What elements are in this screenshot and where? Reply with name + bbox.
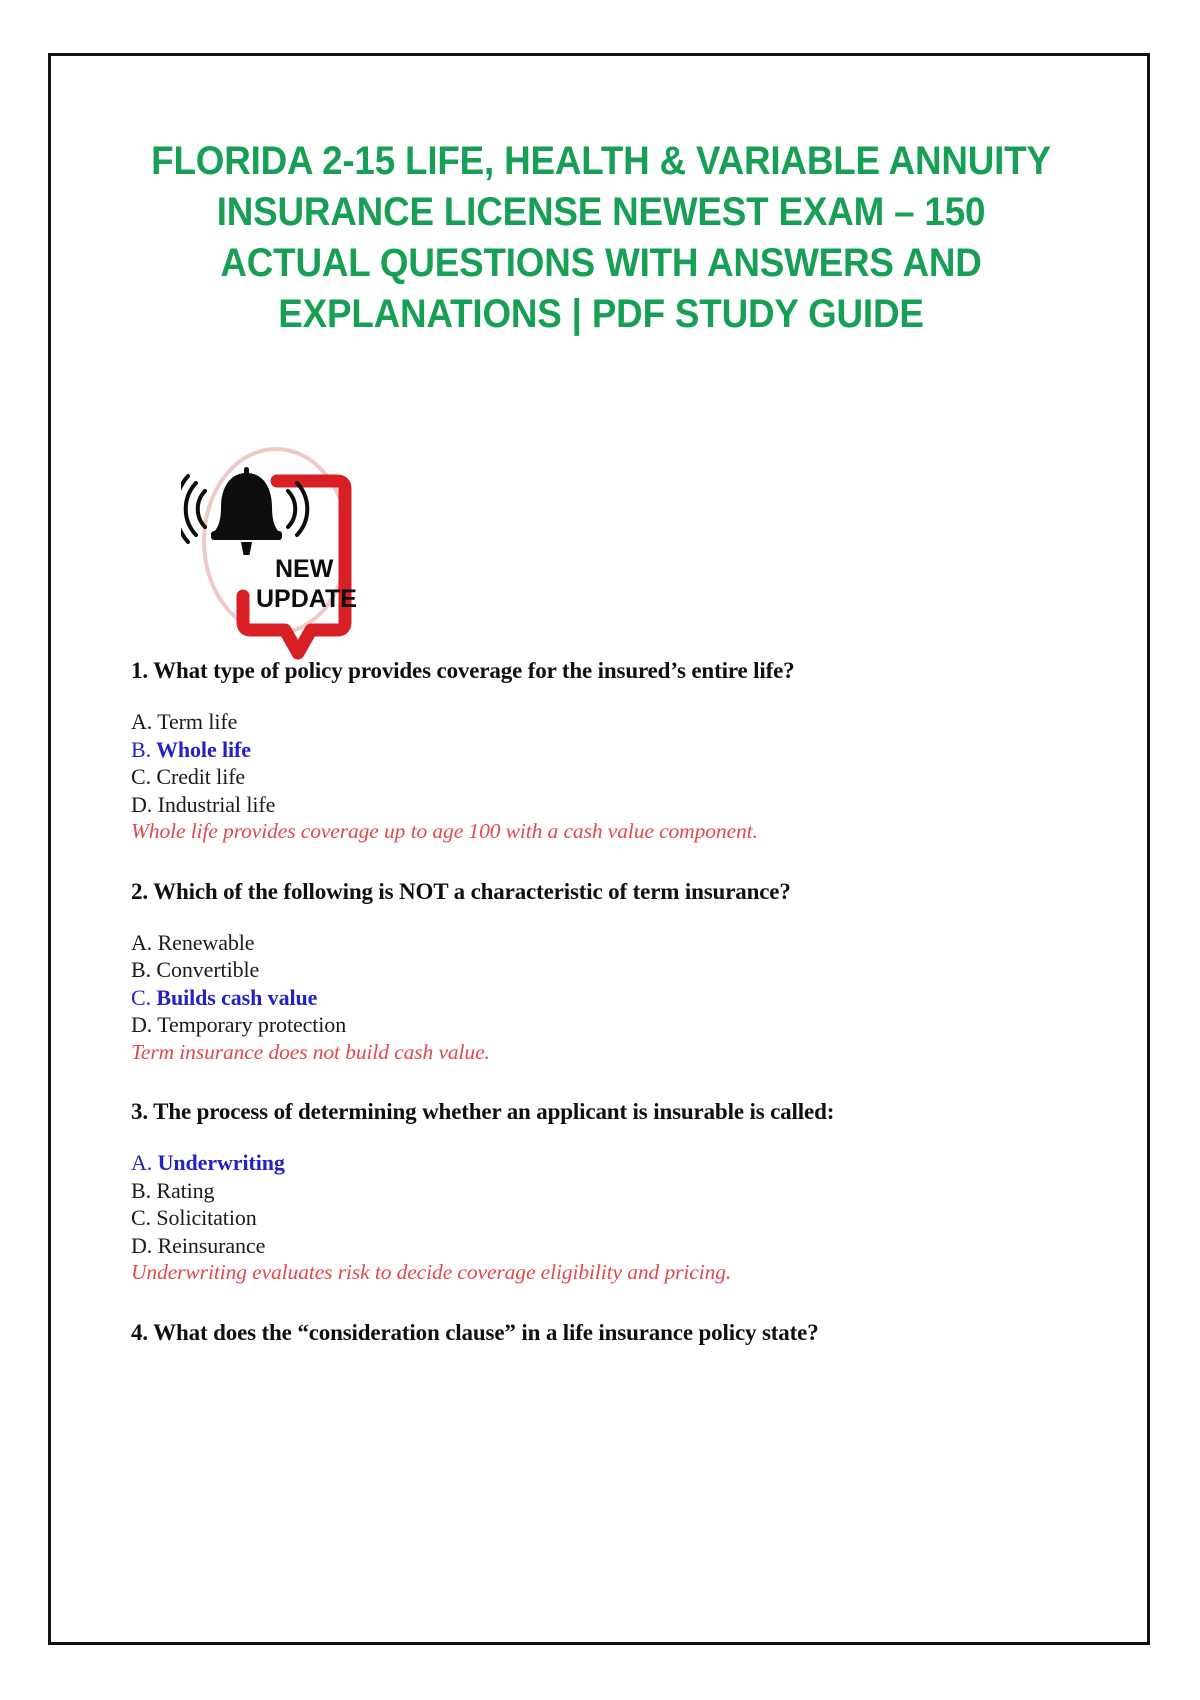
option-2-c[interactable]: C. Builds cash value <box>131 984 1091 1012</box>
option-text: Temporary protection <box>157 1012 346 1037</box>
option-text: Whole life <box>156 737 251 762</box>
options-list-2: A. Renewable B. Convertible C. Builds ca… <box>131 929 1091 1039</box>
options-list-3: A. Underwriting B. Rating C. Solicitatio… <box>131 1149 1091 1259</box>
new-update-badge-icon: NEW UPDATE <box>181 411 371 666</box>
option-text: Builds cash value <box>156 985 317 1010</box>
new-update-logo: NEW UPDATE <box>181 411 371 666</box>
option-letter: B. <box>131 1178 151 1203</box>
option-letter: A. <box>131 709 152 734</box>
question-prompt-1: 1. What type of policy provides coverage… <box>131 656 1091 686</box>
options-list-1: A. Term life B. Whole life C. Credit lif… <box>131 708 1091 818</box>
option-3-a[interactable]: A. Underwriting <box>131 1149 1091 1177</box>
document-page: FLORIDA 2-15 LIFE, HEALTH & VARIABLE ANN… <box>0 0 1200 1700</box>
option-3-b[interactable]: B. Rating <box>131 1177 1091 1205</box>
option-text: Rating <box>156 1178 214 1203</box>
option-letter: B. <box>131 957 151 982</box>
question-block-2: 2. Which of the following is NOT a chara… <box>131 877 1091 1067</box>
question-block-3: 3. The process of determining whether an… <box>131 1097 1091 1287</box>
option-text: Term life <box>157 709 237 734</box>
option-text: Solicitation <box>156 1205 256 1230</box>
explanation-2: Term insurance does not build cash value… <box>131 1039 1091 1067</box>
logo-line1: NEW <box>275 555 334 583</box>
page-title: FLORIDA 2-15 LIFE, HEALTH & VARIABLE ANN… <box>150 136 1052 340</box>
option-2-a[interactable]: A. Renewable <box>131 929 1091 957</box>
question-prompt-2: 2. Which of the following is NOT a chara… <box>131 877 1091 907</box>
option-2-d[interactable]: D. Temporary protection <box>131 1011 1091 1039</box>
option-text: Credit life <box>156 764 245 789</box>
logo-line2: UPDATE <box>256 585 357 613</box>
option-3-c[interactable]: C. Solicitation <box>131 1204 1091 1232</box>
option-1-a[interactable]: A. Term life <box>131 708 1091 736</box>
option-letter: D. <box>131 1012 152 1037</box>
option-letter: C. <box>131 764 151 789</box>
question-block-4: 4. What does the “consideration clause” … <box>131 1318 1091 1348</box>
option-text: Convertible <box>156 957 259 982</box>
option-1-d[interactable]: D. Industrial life <box>131 791 1091 819</box>
explanation-1: Whole life provides coverage up to age 1… <box>131 818 1091 846</box>
option-letter: A. <box>131 1150 152 1175</box>
explanation-3: Underwriting evaluates risk to decide co… <box>131 1259 1091 1287</box>
option-letter: C. <box>131 1205 151 1230</box>
option-text: Renewable <box>158 930 255 955</box>
option-letter: D. <box>131 792 152 817</box>
question-prompt-3: 3. The process of determining whether an… <box>131 1097 1091 1127</box>
page-content-area: FLORIDA 2-15 LIFE, HEALTH & VARIABLE ANN… <box>51 56 1153 1648</box>
option-text: Industrial life <box>158 792 276 817</box>
option-2-b[interactable]: B. Convertible <box>131 956 1091 984</box>
question-prompt-4: 4. What does the “consideration clause” … <box>131 1318 1091 1348</box>
option-letter: B. <box>131 737 151 762</box>
option-letter: C. <box>131 985 151 1010</box>
page-border-frame: FLORIDA 2-15 LIFE, HEALTH & VARIABLE ANN… <box>48 53 1150 1645</box>
option-1-b[interactable]: B. Whole life <box>131 736 1091 764</box>
option-letter: D. <box>131 1233 152 1258</box>
option-letter: A. <box>131 930 152 955</box>
questions-container: 1. What type of policy provides coverage… <box>131 656 1091 1348</box>
option-text: Reinsurance <box>158 1233 266 1258</box>
option-text: Underwriting <box>158 1150 285 1175</box>
option-1-c[interactable]: C. Credit life <box>131 763 1091 791</box>
option-3-d[interactable]: D. Reinsurance <box>131 1232 1091 1260</box>
question-block-1: 1. What type of policy provides coverage… <box>131 656 1091 846</box>
